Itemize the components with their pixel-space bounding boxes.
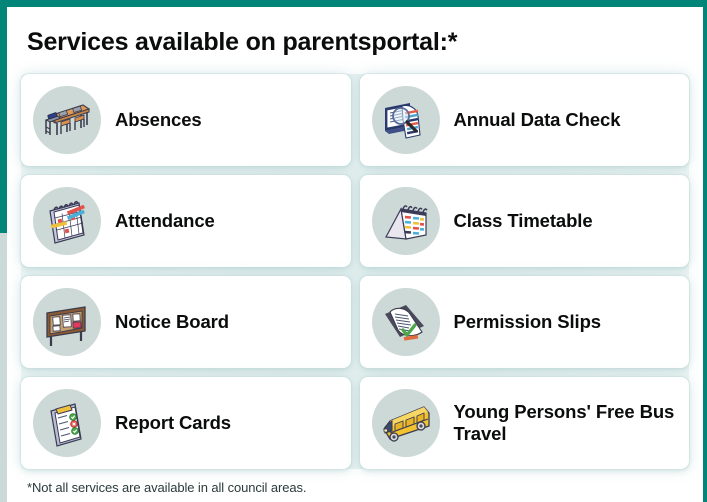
brand-border-left	[0, 0, 7, 233]
service-card-report-cards[interactable]: Report Cards	[21, 377, 351, 469]
yellow-bus-icon	[372, 389, 440, 457]
service-card-class-timetable[interactable]: Class Timetable	[360, 175, 690, 267]
school-desk-icon	[33, 86, 101, 154]
service-card-bus-travel[interactable]: Young Persons' Free Bus Travel	[360, 377, 690, 469]
service-card-attendance[interactable]: Attendance	[21, 175, 351, 267]
service-card-permission-slips[interactable]: Permission Slips	[360, 276, 690, 368]
brand-border-left-fade	[0, 233, 7, 502]
service-card-annual-data-check[interactable]: Annual Data Check	[360, 74, 690, 166]
service-label: Class Timetable	[454, 210, 593, 232]
service-label: Absences	[115, 109, 202, 131]
desk-calendar-icon	[372, 187, 440, 255]
service-label: Report Cards	[115, 412, 231, 434]
services-footnote: *Not all services are available in all c…	[27, 480, 689, 495]
clipboard-checklist-icon	[33, 389, 101, 457]
service-label: Annual Data Check	[454, 109, 621, 131]
services-grid-background: Absences	[21, 74, 689, 469]
service-label: Notice Board	[115, 311, 229, 333]
services-grid: Absences	[21, 74, 689, 469]
services-panel: Services available on parentsportal:*	[7, 7, 703, 502]
brand-border-top	[0, 0, 707, 7]
brand-border-right	[703, 0, 707, 502]
page-title: Services available on parentsportal:*	[27, 28, 689, 57]
service-card-absences[interactable]: Absences	[21, 74, 351, 166]
notice-board-icon	[33, 288, 101, 356]
page-root: Services available on parentsportal:*	[0, 0, 707, 502]
service-label: Attendance	[115, 210, 215, 232]
data-check-magnifier-icon	[372, 86, 440, 154]
service-label: Young Persons' Free Bus Travel	[454, 401, 680, 445]
service-card-notice-board[interactable]: Notice Board	[21, 276, 351, 368]
wall-calendar-icon	[33, 187, 101, 255]
service-label: Permission Slips	[454, 311, 601, 333]
signed-document-icon	[372, 288, 440, 356]
